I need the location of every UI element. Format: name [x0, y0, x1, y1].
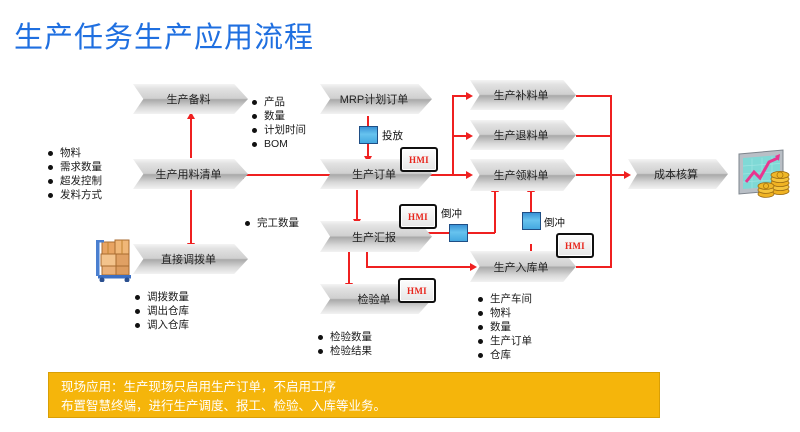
node-rk-label: 生产入库单	[494, 259, 549, 275]
list-item: 调出仓库	[135, 304, 189, 318]
hmi-order-label: HMI	[409, 155, 429, 165]
connector-report-to-rk-v	[366, 252, 368, 267]
node-bom[interactable]: 生产用料清单	[133, 159, 248, 189]
list-item-label: BOM	[264, 137, 288, 151]
list-item: 检验结果	[318, 344, 372, 358]
list-item-label: 调入仓库	[147, 318, 189, 332]
connector-gate1-riser	[494, 191, 496, 233]
list-item: 生产订单	[478, 334, 532, 348]
gate-daochong-1-label: 倒冲	[441, 206, 462, 221]
list-item: 完工数量	[245, 216, 299, 230]
connector-mrp-to-gate	[367, 116, 369, 126]
connector-order-to-report	[356, 190, 358, 220]
bullet-dot	[48, 151, 53, 156]
node-bclm[interactable]: 生产补料单	[470, 80, 576, 110]
list-item: 物料	[48, 146, 102, 160]
list-item-label: 物料	[490, 306, 511, 320]
connector-order-to-bom	[243, 174, 338, 176]
list-item: BOM	[252, 137, 306, 151]
bullet-dot	[252, 100, 257, 105]
node-bom-label: 生产用料清单	[156, 166, 222, 182]
arrowhead-cost	[624, 171, 631, 179]
bullet-dot	[135, 309, 140, 314]
list-item: 生产车间	[478, 292, 532, 306]
bullets-dbd-attrs: 调拨数量 调出仓库 调入仓库	[135, 290, 189, 332]
node-llm-label: 生产领料单	[494, 167, 549, 183]
list-item: 物料	[478, 306, 532, 320]
bullet-dot	[245, 221, 250, 226]
node-dbd-label: 直接调拨单	[161, 251, 216, 267]
list-item-label: 生产车间	[490, 292, 532, 306]
bullet-dot	[48, 165, 53, 170]
node-dbd[interactable]: 直接调拨单	[133, 244, 248, 274]
bullet-dot	[252, 128, 257, 133]
bullets-rk-attrs: 生产车间 物料 数量 生产订单 仓库	[478, 292, 532, 362]
list-item-label: 需求数量	[60, 160, 102, 174]
connector-report-to-check	[348, 252, 350, 284]
list-item: 数量	[478, 320, 532, 334]
bullet-dot	[48, 179, 53, 184]
arrowhead-tlm	[466, 132, 473, 140]
node-llm[interactable]: 生产领料单	[470, 159, 576, 191]
node-sccbl[interactable]: 生产备料	[133, 84, 248, 114]
list-item-label: 数量	[490, 320, 511, 334]
hmi-report-label: HMI	[408, 212, 428, 222]
connector-gate1-to-riser	[467, 232, 495, 234]
hmi-check-label: HMI	[407, 286, 427, 296]
connector-llm-right	[576, 174, 612, 176]
footer-banner-line2: 布置智慧终端，进行生产调度、报工、检验、入库等业务。	[61, 397, 659, 416]
connector-bom-to-sccbl	[190, 118, 192, 158]
node-mrp[interactable]: MRP计划订单	[320, 84, 432, 114]
node-check-label: 检验单	[358, 291, 391, 307]
bullet-dot	[478, 353, 483, 358]
list-item-label: 生产订单	[490, 334, 532, 348]
connector-rk-right	[576, 266, 612, 268]
list-item: 计划时间	[252, 123, 306, 137]
slide-canvas: 生产任务生产应用流程 生产备料	[0, 0, 800, 432]
node-sccbl-label: 生产备料	[167, 91, 211, 107]
footer-banner: 现场应用：生产现场只启用生产订单，不启用工序 布置智慧终端，进行生产调度、报工、…	[48, 372, 660, 418]
bullet-dot	[48, 193, 53, 198]
bullet-dot	[318, 335, 323, 340]
list-item-label: 完工数量	[257, 216, 299, 230]
list-item-label: 超发控制	[60, 174, 102, 188]
hmi-report-icon[interactable]: HMI	[399, 204, 437, 229]
arrowhead-rk-left	[470, 263, 477, 271]
list-item: 产品	[252, 95, 306, 109]
page-title: 生产任务生产应用流程	[14, 14, 314, 56]
list-item: 调入仓库	[135, 318, 189, 332]
node-report-label: 生产汇报	[352, 229, 396, 245]
bullets-mrp-attrs: 产品 数量 计划时间 BOM	[252, 95, 306, 151]
bullet-dot	[478, 339, 483, 344]
connector-right-bus	[610, 95, 612, 267]
node-cost[interactable]: 成本核算	[628, 159, 728, 189]
connector-bom-to-dbd	[190, 190, 192, 244]
gate-daochong-2[interactable]	[522, 212, 541, 230]
bullet-dot	[478, 297, 483, 302]
node-bclm-label: 生产补料单	[494, 87, 549, 103]
hmi-order-icon[interactable]: HMI	[400, 147, 438, 172]
cost-chart-coins-icon	[735, 148, 797, 206]
bullet-dot	[478, 325, 483, 330]
gate-daochong-1[interactable]	[449, 224, 468, 242]
bullet-dot	[252, 142, 257, 147]
footer-banner-line1: 现场应用：生产现场只启用生产订单，不启用工序	[61, 378, 659, 397]
list-item: 检验数量	[318, 330, 372, 344]
bullet-dot	[135, 295, 140, 300]
list-item-label: 检验数量	[330, 330, 372, 344]
bullets-bom-attrs: 物料 需求数量 超发控制 发料方式	[48, 146, 102, 202]
hmi-check-icon[interactable]: HMI	[398, 278, 436, 303]
list-item: 超发控制	[48, 174, 102, 188]
list-item-label: 检验结果	[330, 344, 372, 358]
node-mrp-label: MRP计划订单	[340, 91, 408, 107]
gate-toufang-label: 投放	[382, 128, 403, 143]
list-item-label: 发料方式	[60, 188, 102, 202]
list-item: 数量	[252, 109, 306, 123]
bullet-dot	[135, 323, 140, 328]
node-cost-label: 成本核算	[654, 166, 698, 182]
list-item: 发料方式	[48, 188, 102, 202]
node-tlm-label: 生产退料单	[494, 127, 549, 143]
list-item-label: 数量	[264, 109, 285, 123]
list-item-label: 产品	[264, 95, 285, 109]
hmi-rk-label: HMI	[565, 241, 585, 251]
arrowhead-bclm	[466, 92, 473, 100]
hmi-rk-icon[interactable]: HMI	[556, 233, 594, 258]
bullet-dot	[318, 349, 323, 354]
gate-daochong-2-label: 倒冲	[544, 215, 565, 230]
list-item: 调拨数量	[135, 290, 189, 304]
connector-tlm-right	[576, 135, 612, 137]
node-tlm[interactable]: 生产退料单	[470, 120, 576, 150]
list-item-label: 计划时间	[264, 123, 306, 137]
list-item-label: 物料	[60, 146, 81, 160]
connector-gate2-to-llm	[530, 191, 532, 212]
pallet-boxes-icon	[88, 236, 138, 282]
bullets-report-attr: 完工数量	[245, 216, 299, 230]
gate-toufang[interactable]	[359, 126, 378, 144]
list-item-label: 调拨数量	[147, 290, 189, 304]
list-item-label: 调出仓库	[147, 304, 189, 318]
connector-report-to-rk-h	[366, 266, 472, 268]
node-order-label: 生产订单	[352, 166, 396, 182]
bullet-dot	[478, 311, 483, 316]
connector-bclm-right	[576, 95, 612, 97]
arrowhead-llm-left	[466, 171, 473, 179]
list-item: 需求数量	[48, 160, 102, 174]
list-item-label: 仓库	[490, 348, 511, 362]
list-item: 仓库	[478, 348, 532, 362]
bullets-check-attrs: 检验数量 检验结果	[318, 330, 372, 358]
bullet-dot	[252, 114, 257, 119]
